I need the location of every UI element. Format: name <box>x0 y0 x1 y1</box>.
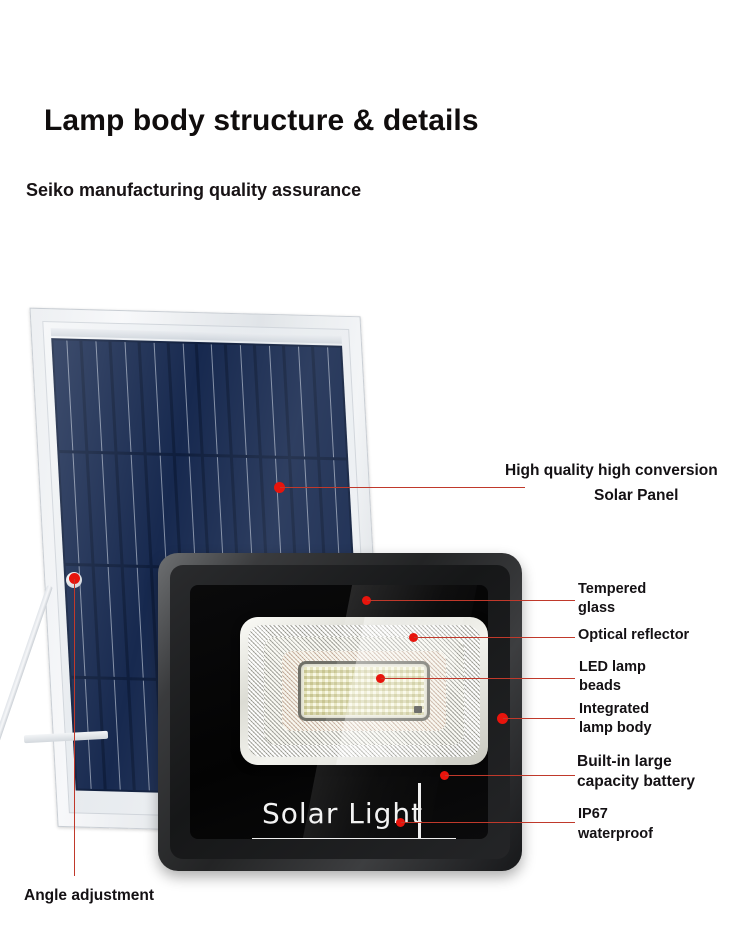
leader-line-battery <box>445 775 575 776</box>
leader-line-led-lamp-beads <box>381 678 575 679</box>
callout-waterproof-line1: IP67 <box>578 805 608 824</box>
callout-led-lamp-beads-line2: beads <box>579 677 621 696</box>
solar-cell <box>95 567 127 678</box>
brand-divider-tick <box>418 783 421 839</box>
solar-cell <box>227 345 259 456</box>
callout-solar-panel-line1: High quality high conversion <box>505 461 718 481</box>
callout-solar-panel-line2: Solar Panel <box>594 486 678 506</box>
led-bead-array <box>304 667 424 715</box>
tempered-glass-panel: Solar Light IP67 <box>190 585 488 839</box>
solar-cell <box>233 458 265 569</box>
solar-cell <box>140 342 172 453</box>
solar-cell <box>111 342 143 453</box>
solar-cell <box>146 455 178 566</box>
callout-integrated-lamp-body-line1: Integrated <box>579 700 649 719</box>
leader-line-waterproof <box>401 822 575 823</box>
leader-line-optical-reflector <box>414 637 575 638</box>
solar-cell <box>130 680 162 791</box>
solar-cell <box>175 456 207 567</box>
led-driver-chip <box>414 706 422 713</box>
product-diagram-canvas: Lamp body structure & details Seiko manu… <box>0 0 750 931</box>
callout-tempered-glass-line2: glass <box>578 599 615 618</box>
callout-waterproof-line2: waterproof <box>578 825 653 844</box>
solar-cell <box>169 343 201 454</box>
callout-tempered-glass-line1: Tempered <box>578 580 646 599</box>
solar-cell <box>59 453 91 564</box>
led-bead-plate <box>298 661 430 721</box>
solar-cell <box>314 347 346 458</box>
page-title: Lamp body structure & details <box>44 104 479 138</box>
solar-cell <box>88 454 120 565</box>
solar-cell <box>198 344 230 455</box>
solar-cell <box>124 567 156 678</box>
lamp-housing-inner: Solar Light IP67 <box>170 565 510 859</box>
callout-battery-line1: Built-in large <box>577 752 672 772</box>
brand-underline <box>252 838 456 839</box>
solar-cell <box>256 346 288 457</box>
page-subtitle: Seiko manufacturing quality assurance <box>26 180 361 201</box>
solar-cell <box>53 340 85 451</box>
leader-line-solar-panel <box>280 487 525 488</box>
callout-optical-reflector: Optical reflector <box>578 626 689 645</box>
optical-reflector-module <box>240 617 488 765</box>
leader-line-angle-adjustment <box>74 579 75 876</box>
leader-line-integrated-lamp-body <box>503 718 575 719</box>
solar-cell <box>117 455 149 566</box>
leader-line-tempered-glass <box>367 600 575 601</box>
solar-cell <box>204 457 236 568</box>
callout-integrated-lamp-body-line2: lamp body <box>579 719 652 738</box>
callout-led-lamp-beads-line1: LED lamp <box>579 658 646 677</box>
callout-battery-line2: capacity battery <box>577 772 695 792</box>
callout-angle-adjustment: Angle adjustment <box>24 886 154 906</box>
solar-cell <box>82 341 114 452</box>
solar-cell <box>285 346 317 457</box>
